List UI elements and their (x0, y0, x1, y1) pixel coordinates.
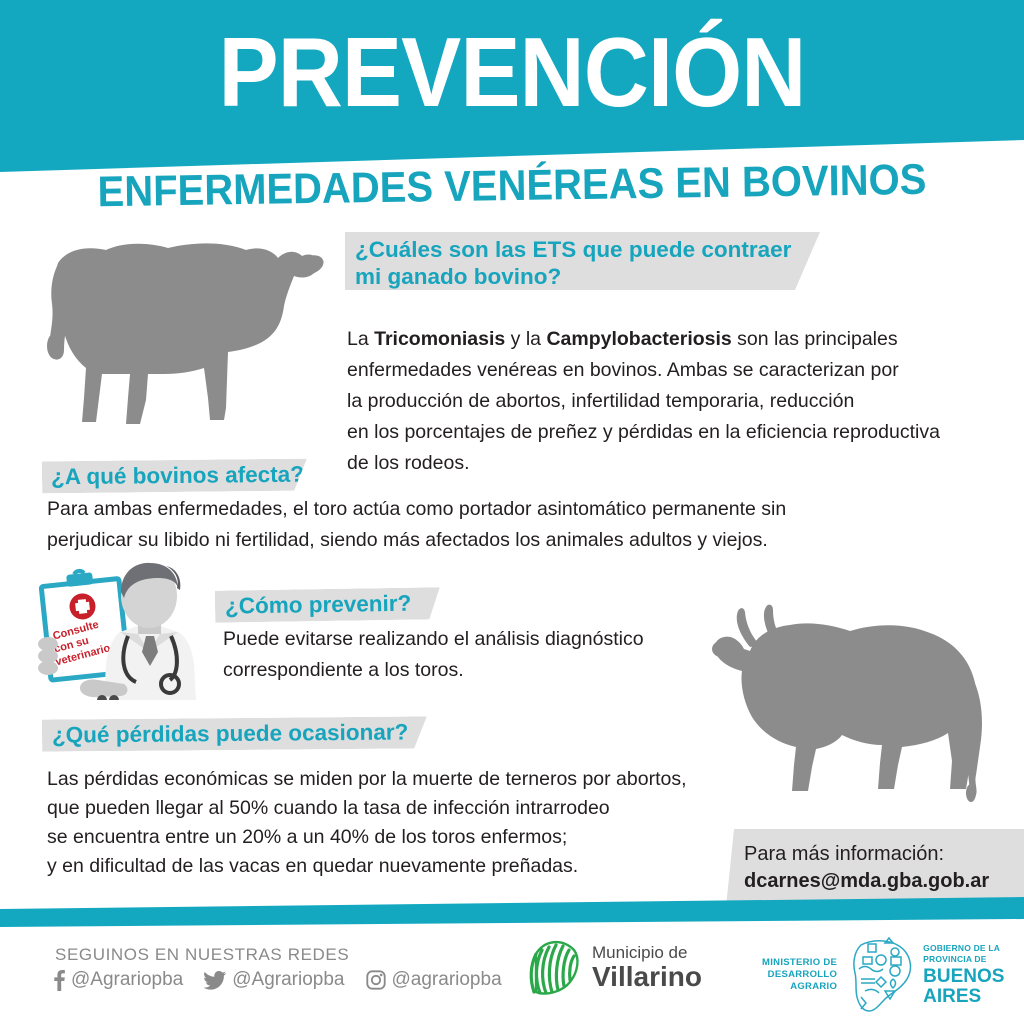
body-part-1: La (347, 328, 374, 350)
social-links: @Agrariopba @Agrariopba @agrariopba (52, 969, 502, 991)
section-prevenir-question: ¿Cómo prevenir? (225, 589, 440, 620)
villarino-wordmark: Municipio de Villarino (592, 944, 702, 991)
section-afecta-question-banner: ¿A qué bovinos afecta? (42, 459, 307, 494)
cow-silhouette-icon (28, 228, 328, 453)
buenos-aires-line: BUENOS AIRES (923, 967, 1004, 1007)
gobierno-line: GOBIERNO DE LA PROVINCIA DE (923, 943, 1004, 965)
follow-us-title: SEGUINOS EN NUESTRAS REDES (55, 945, 349, 965)
contact-label: Para más información: (744, 841, 1024, 868)
section-perdidas-question-banner: ¿Qué pérdidas puede ocasionar? (42, 716, 427, 751)
ministerio-wordmark: MINISTERIO DE DESARROLLO AGRARIO (762, 957, 837, 993)
government-logo: MINISTERIO DE DESARROLLO AGRARIO (762, 935, 1004, 1015)
social-facebook[interactable]: @Agrariopba (52, 969, 183, 991)
social-twitter[interactable]: @Agrariopba (203, 969, 344, 991)
twitter-icon (203, 969, 227, 991)
section-ets-body: La Tricomoniasis y la Campylobacteriosis… (347, 293, 1007, 479)
instagram-icon (365, 969, 387, 991)
facebook-icon (52, 969, 66, 991)
villarino-mark-icon (524, 936, 582, 998)
contact-email[interactable]: dcarnes@mda.gba.gob.ar (744, 868, 1024, 895)
instagram-handle: @agrariopba (392, 969, 502, 991)
section-afecta-body: Para ambas enfermedades, el toro actúa c… (47, 494, 947, 556)
contact-info: Para más información: dcarnes@mda.gba.go… (744, 841, 1024, 895)
infographic-poster: PREVENCIÓN ENFERMEDADES VENÉREAS EN BOVI… (0, 0, 1024, 1024)
term-tricomoniasis: Tricomoniasis (374, 328, 505, 350)
section-prevenir-body: Puede evitarse realizando el análisis di… (223, 624, 743, 686)
section-ets-question: ¿Cuáles son las ETS que puede contraer m… (355, 236, 820, 290)
bull-silhouette-icon (690, 603, 990, 823)
section-ets-question-banner: ¿Cuáles son las ETS que puede contraer m… (345, 232, 820, 290)
twitter-handle: @Agrariopba (232, 969, 344, 991)
villarino-logo: Municipio de Villarino (524, 936, 702, 998)
buenos-aires-wordmark: GOBIERNO DE LA PROVINCIA DE BUENOS AIRES (923, 943, 1004, 1007)
term-campylobacteriosis: Campylobacteriosis (546, 328, 731, 350)
section-afecta-question: ¿A qué bovinos afecta? (51, 461, 307, 492)
section-perdidas-body: Las pérdidas económicas se miden por la … (47, 765, 687, 881)
body-part-2: y la (505, 328, 546, 350)
villarino-line-2: Villarino (592, 963, 702, 991)
buenos-aires-province-map-icon (841, 935, 919, 1015)
section-perdidas-question: ¿Qué pérdidas puede ocasionar? (52, 718, 427, 749)
page-title: PREVENCIÓN (41, 20, 983, 124)
veterinarian-illustration: Consulte con su veterinario (28, 560, 228, 705)
footer-divider-band (0, 897, 1024, 927)
section-prevenir-question-banner: ¿Cómo prevenir? (215, 587, 440, 623)
villarino-line-1: Municipio de (592, 944, 702, 961)
facebook-handle: @Agrariopba (71, 969, 183, 991)
social-instagram[interactable]: @agrariopba (365, 969, 502, 991)
